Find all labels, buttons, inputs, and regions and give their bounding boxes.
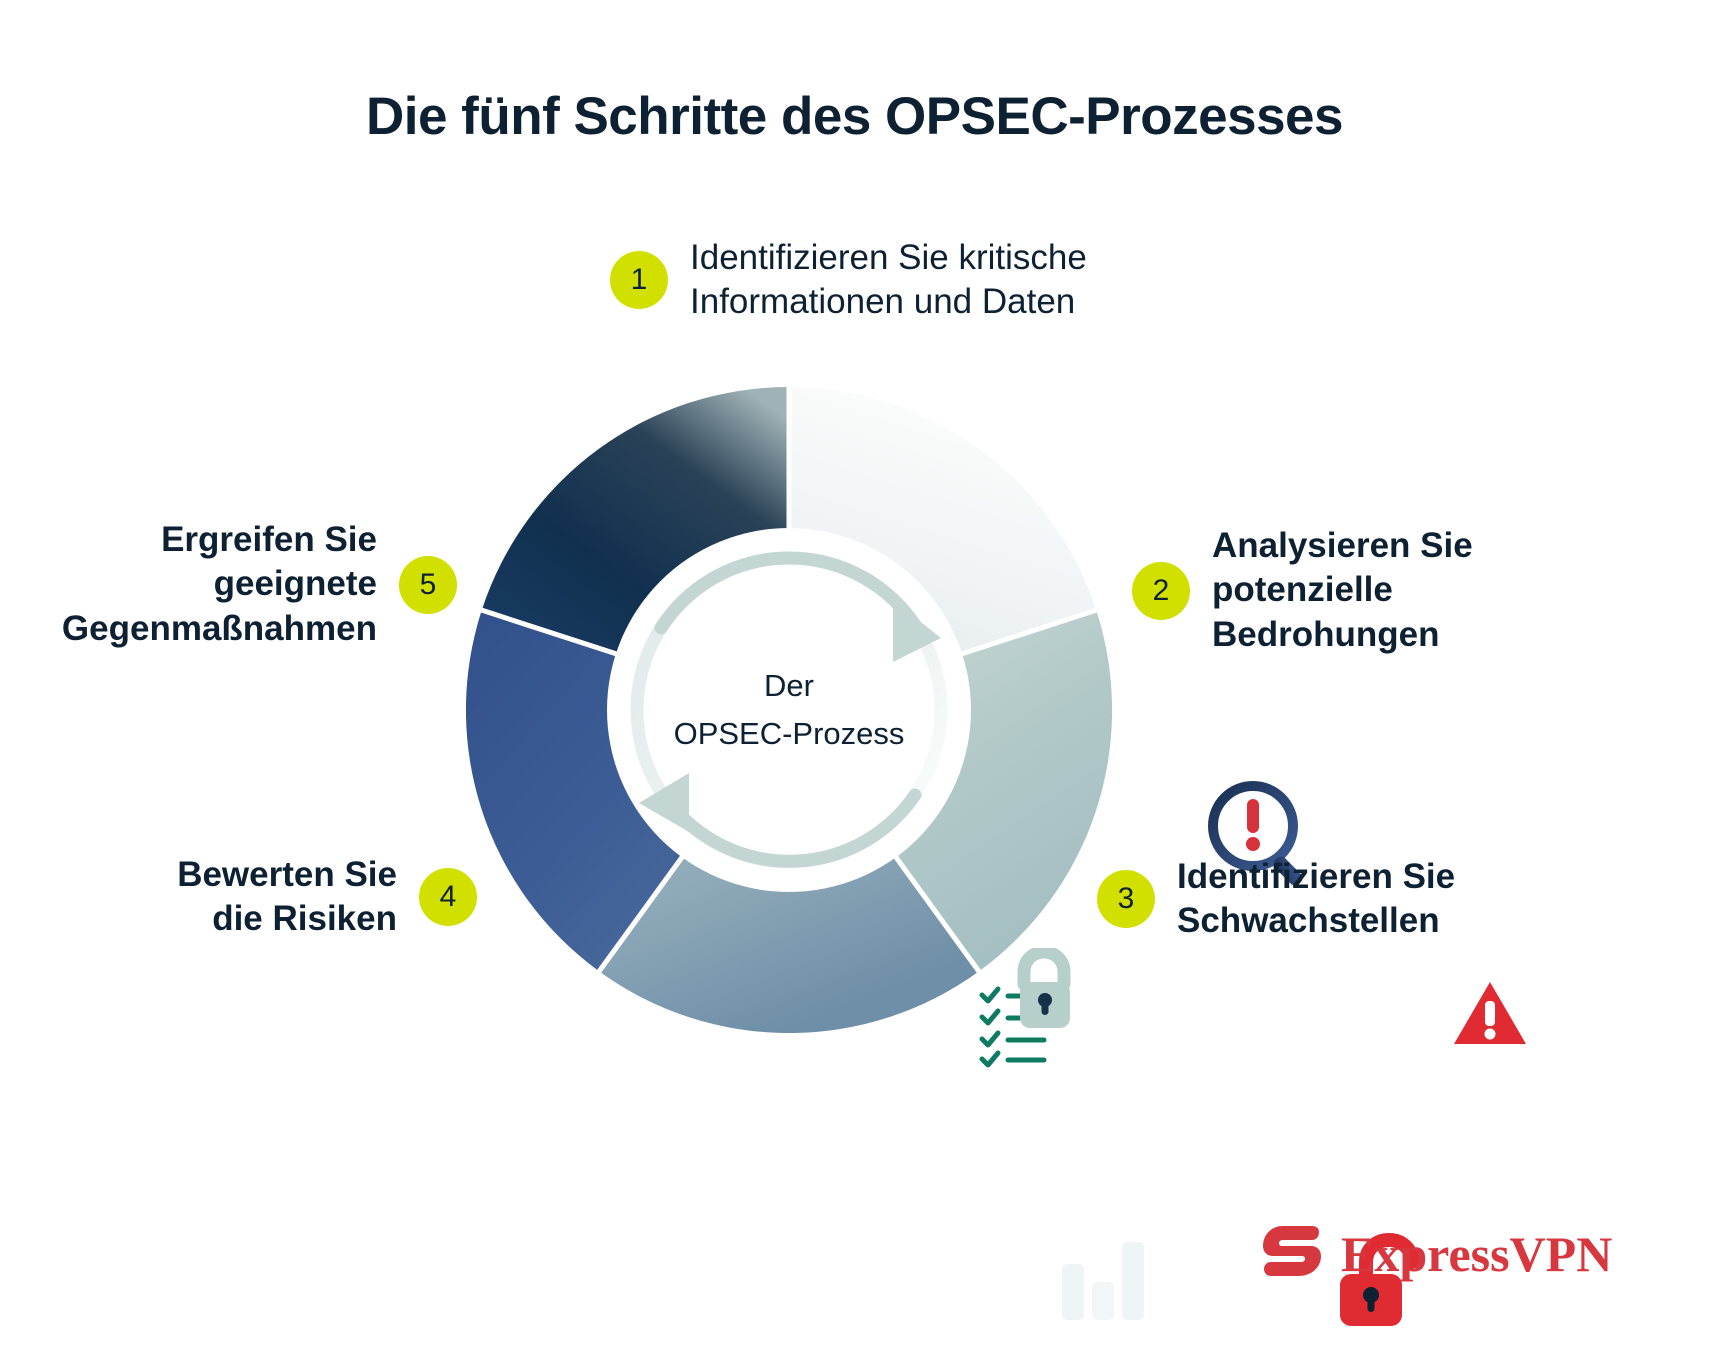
expressvpn-logo[interactable]: ExpressVPN: [1263, 1225, 1612, 1283]
opsec-process-infographic: Die fünf Schritte des OPSEC-Prozesses: [0, 0, 1709, 1361]
step-2[interactable]: 2 Analysieren Sie potenzielle Bedrohunge…: [1132, 524, 1473, 657]
step-3-badge: 3: [1097, 870, 1155, 928]
step-5[interactable]: Ergreifen Sie geeignete Gegenmaßnahmen 5: [62, 518, 457, 651]
bar-chart-icon: [1060, 1232, 1152, 1322]
opsec-donut-chart: Der OPSEC-Prozess: [466, 387, 1112, 1033]
cloud-warning-icon: [1428, 968, 1534, 1066]
page-title: Die fünf Schritte des OPSEC-Prozesses: [0, 86, 1709, 147]
step-4-label: Bewerten Sie die Risiken: [177, 853, 397, 942]
step-2-badge: 2: [1132, 562, 1190, 620]
donut-hub: [607, 528, 971, 892]
donut-svg: [466, 387, 1112, 1033]
expressvpn-logo-text: ExpressVPN: [1341, 1225, 1612, 1283]
step-4-badge: 4: [419, 868, 477, 926]
step-2-label: Analysieren Sie potenzielle Bedrohungen: [1212, 524, 1473, 657]
step-5-label: Ergreifen Sie geeignete Gegenmaßnahmen: [62, 518, 377, 651]
step-3-label: Identifizieren Sie Schwachstellen: [1177, 855, 1455, 944]
step-1-label: Identifizieren Sie kritische Information…: [690, 236, 1087, 325]
step-1[interactable]: 1 Identifizieren Sie kritische Informati…: [610, 236, 1087, 325]
step-5-badge: 5: [399, 556, 457, 614]
step-1-badge: 1: [610, 251, 668, 309]
step-3[interactable]: 3 Identifizieren Sie Schwachstellen: [1097, 855, 1455, 944]
expressvpn-logo-mark: [1263, 1225, 1325, 1283]
checklist-lock-icon: [962, 948, 1086, 1078]
step-4[interactable]: Bewerten Sie die Risiken 4: [177, 853, 477, 942]
